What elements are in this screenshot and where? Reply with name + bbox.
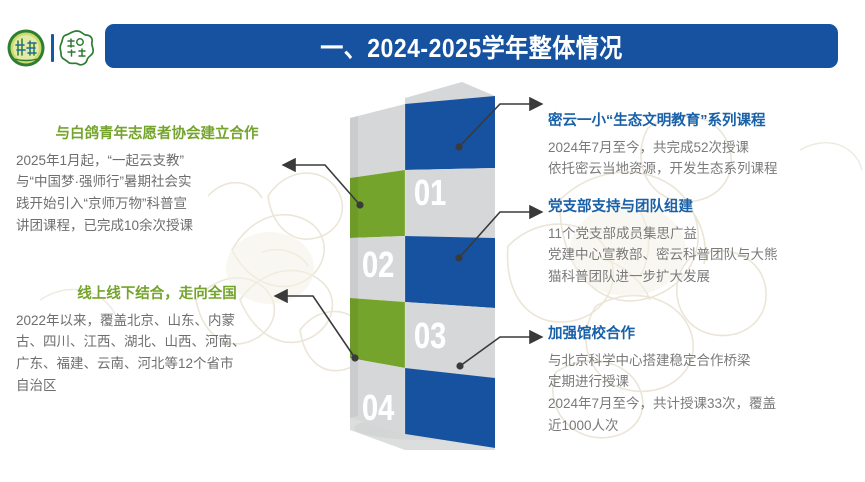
callout-right-05-body: 与北京科学中心搭建稳定合作桥梁 定期进行授课 2024年7月至今，共计授课33次…: [548, 350, 860, 437]
jingshiwanwu-emblem-icon: [59, 29, 95, 67]
block-number-04: 04: [362, 389, 394, 430]
callout-left-02-heading: 与白鸽青年志愿者协会建立合作: [16, 125, 298, 145]
block-03-right-face: [405, 236, 495, 308]
block-number-02: 02: [362, 246, 394, 287]
callout-line: 践开始引入“京师万物”科普宣: [16, 193, 298, 215]
callout-line: 广东、福建、云南、河北等12个省市: [16, 353, 298, 375]
numbered-3d-column: 01 02 03 04 05: [350, 78, 495, 450]
callout-line: 与“中国梦·强师行”暑期社会实: [16, 171, 298, 193]
slide-root: 一、2024-2025学年整体情况: [0, 0, 865, 482]
callout-right-01-heading: 密云一小“生态文明教育”系列课程: [548, 112, 860, 132]
institution-emblem-round-icon: [6, 28, 46, 68]
callout-line: 近1000人次: [548, 415, 860, 437]
block-number-03: 03: [414, 317, 446, 358]
callout-right-05: 加强馆校合作 与北京科学中心搭建稳定合作桥梁 定期进行授课 2024年7月至今，…: [548, 325, 860, 437]
slide-header: 一、2024-2025学年整体情况: [0, 22, 865, 74]
callout-right-01: 密云一小“生态文明教育”系列课程 2024年7月至今，共完成52次授课 依托密云…: [548, 112, 860, 180]
callout-right-01-body: 2024年7月至今，共完成52次授课 依托密云当地资源，开发生态系列课程: [548, 137, 860, 181]
block-04-left-face: [350, 298, 405, 368]
block-number-01: 01: [414, 174, 446, 215]
callout-left-04: 线上线下结合，走向全国 2022年以来，覆盖北京、山东、内蒙 古、四川、江西、湖…: [16, 285, 298, 397]
callout-line: 2025年1月起，“一起云支教”: [16, 150, 298, 172]
callout-line: 古、四川、江西、湖北、山西、河南、: [16, 331, 298, 353]
title-bar: 一、2024-2025学年整体情况: [105, 24, 838, 68]
callout-line: 2022年以来，覆盖北京、山东、内蒙: [16, 310, 298, 332]
callout-left-04-heading: 线上线下结合，走向全国: [16, 285, 298, 305]
block-01-left-face: [350, 104, 405, 178]
callout-line: 11个党支部成员集思广益: [548, 223, 860, 245]
callout-left-02: 与白鸽青年志愿者协会建立合作 2025年1月起，“一起云支教” 与“中国梦·强师…: [16, 125, 298, 237]
callout-line: 讲团课程，已完成10余次授课: [16, 215, 298, 237]
callout-line: 自治区: [16, 375, 298, 397]
callout-line: 定期进行授课: [548, 371, 860, 393]
callout-line: 依托密云当地资源，开发生态系列课程: [548, 158, 860, 180]
callout-line: 2024年7月至今，共计授课33次，覆盖: [548, 393, 860, 415]
callout-line: 2024年7月至今，共完成52次授课: [548, 137, 860, 159]
page-title: 一、2024-2025学年整体情况: [320, 27, 623, 65]
block-05-right-face: [405, 368, 495, 448]
callout-right-03-heading: 党支部支持与团队组建: [548, 198, 860, 218]
logo-group: [6, 26, 98, 70]
callout-right-05-heading: 加强馆校合作: [548, 325, 860, 345]
block-number-05: 05: [414, 460, 446, 482]
callout-line: 党建中心宣教部、密云科普团队与大熊: [548, 244, 860, 266]
callout-line: 猫科普团队进一步扩大发展: [548, 266, 860, 288]
logo-divider: [51, 34, 54, 62]
callout-right-03-body: 11个党支部成员集思广益 党建中心宣教部、密云科普团队与大熊 猫科普团队进一步扩…: [548, 223, 860, 289]
callout-right-03: 党支部支持与团队组建 11个党支部成员集思广益 党建中心宣教部、密云科普团队与大…: [548, 198, 860, 288]
callout-left-02-body: 2025年1月起，“一起云支教” 与“中国梦·强师行”暑期社会实 践开始引入“京…: [16, 150, 298, 237]
callout-line: 与北京科学中心搭建稳定合作桥梁: [548, 350, 860, 372]
block-01-right-face: [405, 96, 495, 170]
block-02-left-face: [350, 170, 405, 238]
callout-left-04-body: 2022年以来，覆盖北京、山东、内蒙 古、四川、江西、湖北、山西、河南、 广东、…: [16, 310, 298, 397]
